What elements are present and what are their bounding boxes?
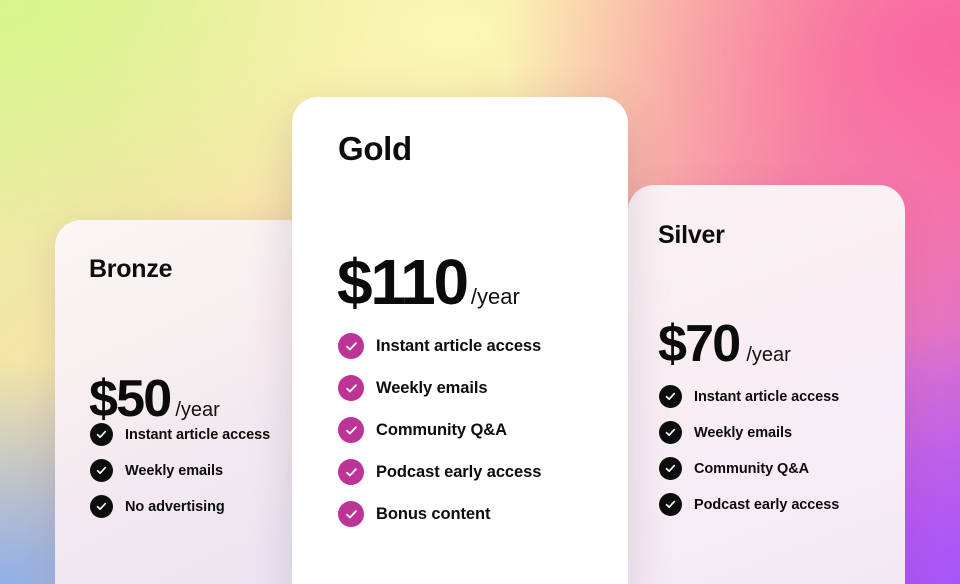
- list-item: No advertising: [90, 495, 270, 518]
- feature-label: Weekly emails: [125, 463, 223, 479]
- list-item: Weekly emails: [659, 421, 839, 444]
- plan-name-silver: Silver: [658, 221, 725, 250]
- feature-label: Community Q&A: [694, 461, 809, 477]
- check-circle-icon: [338, 417, 364, 443]
- feature-label: Podcast early access: [376, 463, 541, 482]
- list-item: Weekly emails: [338, 375, 541, 401]
- feature-label: Weekly emails: [376, 379, 487, 398]
- feature-list-gold: Instant article access Weekly emails Com…: [338, 333, 541, 543]
- check-circle-icon: [338, 333, 364, 359]
- list-item: Instant article access: [338, 333, 541, 359]
- feature-label: Community Q&A: [376, 421, 507, 440]
- price-period-silver: /year: [746, 345, 790, 365]
- feature-list-bronze: Instant article access Weekly emails No …: [90, 423, 270, 531]
- list-item: Podcast early access: [659, 493, 839, 516]
- pricing-card-silver[interactable]: Silver $70 /year Instant article access …: [628, 185, 905, 584]
- price-amount-gold: $110: [337, 250, 467, 314]
- feature-label: Podcast early access: [694, 497, 839, 513]
- list-item: Community Q&A: [659, 457, 839, 480]
- price-amount-bronze: $50: [89, 373, 170, 425]
- pricing-card-gold[interactable]: Gold $110 /year Instant article access W…: [292, 97, 628, 584]
- feature-list-silver: Instant article access Weekly emails Com…: [659, 385, 839, 529]
- check-circle-icon: [338, 375, 364, 401]
- feature-label: No advertising: [125, 499, 225, 515]
- feature-label: Instant article access: [694, 389, 839, 405]
- price-period-gold: /year: [471, 286, 520, 308]
- list-item: Instant article access: [90, 423, 270, 446]
- list-item: Community Q&A: [338, 417, 541, 443]
- check-circle-icon: [90, 495, 113, 518]
- price-amount-silver: $70: [658, 318, 739, 370]
- list-item: Podcast early access: [338, 459, 541, 485]
- feature-label: Bonus content: [376, 505, 490, 524]
- card-content-silver: Silver $70 /year Instant article access …: [628, 185, 905, 584]
- feature-label: Instant article access: [125, 427, 270, 443]
- check-circle-icon: [659, 421, 682, 444]
- list-item: Instant article access: [659, 385, 839, 408]
- price-gold: $110 /year: [337, 250, 520, 314]
- feature-label: Instant article access: [376, 337, 541, 356]
- feature-label: Weekly emails: [694, 425, 792, 441]
- price-bronze: $50 /year: [89, 373, 220, 425]
- price-period-bronze: /year: [175, 400, 219, 420]
- plan-name-gold: Gold: [338, 130, 412, 168]
- check-circle-icon: [90, 423, 113, 446]
- check-circle-icon: [659, 385, 682, 408]
- check-circle-icon: [338, 501, 364, 527]
- pricing-page: Bronze $50 /year Instant article access …: [0, 0, 960, 584]
- plan-name-bronze: Bronze: [89, 255, 172, 284]
- card-content-gold: Gold $110 /year Instant article access W…: [292, 97, 628, 584]
- check-circle-icon: [90, 459, 113, 482]
- check-circle-icon: [659, 493, 682, 516]
- list-item: Weekly emails: [90, 459, 270, 482]
- check-circle-icon: [659, 457, 682, 480]
- check-circle-icon: [338, 459, 364, 485]
- price-silver: $70 /year: [658, 318, 791, 370]
- list-item: Bonus content: [338, 501, 541, 527]
